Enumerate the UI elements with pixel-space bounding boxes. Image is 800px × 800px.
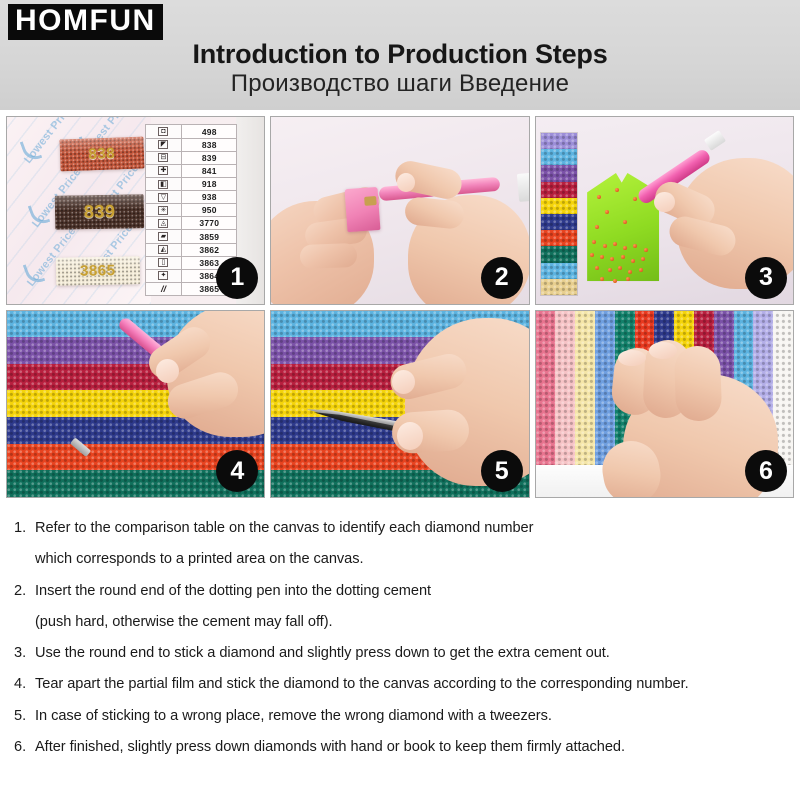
- chart-symbol-icon: ✚: [158, 166, 168, 175]
- diamond-bead: [592, 240, 596, 244]
- chart-symbol-icon: ▽: [158, 193, 168, 202]
- dmc-number-cell: 938: [182, 191, 237, 204]
- chart-symbol-icon: ◘: [158, 127, 168, 136]
- symbol-cell: ▰: [146, 230, 183, 243]
- chart-symbol-icon: ✳: [158, 206, 168, 215]
- bead-texture: [555, 311, 575, 468]
- symbol-cell: ✦: [146, 270, 183, 283]
- diamond-bead: [639, 268, 643, 272]
- instruction-text: After finished, slightly press down diam…: [35, 737, 786, 758]
- step-number-badge: 5: [481, 450, 523, 492]
- instruction-continuation: which corresponds to a printed area on t…: [14, 549, 786, 570]
- dmc-number-cell: 838: [182, 139, 237, 152]
- instruction-item: 3. Use the round end to stick a diamond …: [14, 643, 786, 664]
- instruction-item: 5. In case of sticking to a wrong place,…: [14, 706, 786, 727]
- panel-press-down-diamonds-by-hand: 6: [535, 310, 794, 499]
- diamond-bead: [631, 259, 635, 263]
- steps-image-grid: Lowest Price Lowest Price Lowest Price L…: [6, 116, 794, 498]
- brand-logo: HOMFUN: [8, 4, 163, 40]
- diamond-bead: [621, 255, 625, 259]
- diamond-bead: [595, 225, 599, 229]
- diamond-bead: [626, 277, 630, 281]
- instruction-item: 1. Refer to the comparison table on the …: [14, 518, 786, 539]
- dotting-cement-block: [344, 187, 380, 232]
- panel-remove-diamond-with-tweezers: 5: [270, 310, 529, 499]
- diamond-bead: [608, 268, 612, 272]
- diamond-bead: [595, 266, 599, 270]
- symbol-cell: ⊟: [146, 152, 183, 165]
- page-title-english: Introduction to Production Steps: [0, 40, 800, 69]
- table-row: ◧ 918: [146, 178, 238, 191]
- instruction-text: Tear apart the partial film and stick th…: [35, 674, 786, 695]
- step-number-badge: 3: [745, 257, 787, 299]
- symbol-cell: ▯: [146, 257, 183, 270]
- table-row: ◬ 3770: [146, 217, 238, 230]
- diamond-bead: [633, 197, 637, 201]
- symbol-cell: //: [146, 283, 183, 296]
- instruction-number: 6.: [14, 737, 35, 758]
- table-row: ◘ 498: [146, 125, 238, 138]
- bead-texture: [575, 311, 595, 468]
- diamond-bead: [603, 244, 607, 248]
- symbol-cell: ◬: [146, 217, 183, 230]
- dmc-number-cell: 3859: [182, 230, 237, 243]
- table-row: ▰ 3859: [146, 230, 238, 243]
- dmc-number-cell: 918: [182, 178, 237, 191]
- diamond-bead: [615, 188, 619, 192]
- instruction-item: 4. Tear apart the partial film and stick…: [14, 674, 786, 695]
- chart-symbol-icon: ✦: [158, 271, 168, 280]
- ring-finger: [673, 345, 722, 421]
- table-row: ⊟ 839: [146, 152, 238, 165]
- bead-texture: [536, 311, 556, 468]
- right-thumb: [404, 196, 466, 230]
- dmc-number-cell: 839: [182, 152, 237, 165]
- panel-diamond-bags-and-color-chart: Lowest Price Lowest Price Lowest Price L…: [6, 116, 265, 305]
- chart-symbol-icon: ▰: [158, 232, 168, 241]
- dmc-number-cell: 3770: [182, 217, 237, 230]
- panel-insert-pen-into-cement: 2: [270, 116, 529, 305]
- table-row: ✳ 950: [146, 204, 238, 217]
- diamond-bead: [613, 279, 617, 283]
- table-row: ✚ 841: [146, 165, 238, 178]
- diamond-bag: 3865: [56, 256, 140, 285]
- diamond-bead: [590, 253, 594, 257]
- right-fingernail: [654, 192, 675, 213]
- title-block: Introduction to Production Steps Произво…: [0, 40, 800, 99]
- dmc-number-cell: 3862: [182, 244, 237, 257]
- canvas-stripe: [536, 311, 556, 468]
- instruction-number: 3.: [14, 643, 35, 664]
- diamond-bead: [623, 246, 627, 250]
- instruction-number: 2.: [14, 581, 35, 602]
- diamond-bag-label: 3865: [80, 262, 116, 280]
- symbol-cell: ◘: [146, 125, 183, 138]
- right-fingernail: [397, 173, 415, 192]
- chart-symbol-icon: ◤: [158, 140, 168, 149]
- diamond-bead: [610, 257, 614, 261]
- table-row: ◭ 3862: [146, 244, 238, 257]
- symbol-cell: ◤: [146, 139, 183, 152]
- diamond-bag-label: 838: [89, 144, 116, 162]
- symbol-cell: ◭: [146, 244, 183, 257]
- diamond-bead: [597, 195, 601, 199]
- diamond-bead: [618, 266, 622, 270]
- canvas-stripe: [555, 311, 575, 468]
- chart-symbol-icon: //: [158, 285, 168, 294]
- step-number-badge: 2: [481, 257, 523, 299]
- diamond-bag: 839: [54, 195, 144, 230]
- diamond-bead: [600, 255, 604, 259]
- chart-symbol-icon: ⊟: [158, 153, 168, 162]
- chart-symbol-icon: ◧: [158, 180, 168, 189]
- panel-place-diamond-on-canvas: 4: [6, 310, 265, 499]
- table-row: ▽ 938: [146, 191, 238, 204]
- fingernail: [649, 342, 677, 359]
- diamond-bead: [633, 244, 637, 248]
- chart-symbol-icon: ◬: [158, 219, 168, 228]
- step-number-badge: 1: [216, 257, 258, 299]
- pen-cap: [517, 172, 529, 202]
- symbol-cell: ▽: [146, 191, 183, 204]
- instruction-number: 5.: [14, 706, 35, 727]
- canvas-stripe: [575, 311, 595, 468]
- instruction-number: 4.: [14, 674, 35, 695]
- page-title-russian: Производство шаги Введение: [0, 70, 800, 99]
- panel-pick-diamond-from-tray: 3: [535, 116, 794, 305]
- symbol-cell: ◧: [146, 178, 183, 191]
- page-root: HOMFUN Introduction to Production Steps …: [0, 0, 800, 800]
- diamond-bead: [613, 242, 617, 246]
- diamond-bag-label: 839: [83, 201, 115, 223]
- diamond-bead: [644, 248, 648, 252]
- instruction-text: Refer to the comparison table on the can…: [35, 518, 786, 539]
- diamond-bead: [628, 270, 632, 274]
- instruction-text: Use the round end to stick a diamond and…: [35, 643, 786, 664]
- diamond-bag: 838: [60, 136, 145, 171]
- symbol-cell: ✳: [146, 204, 183, 217]
- instruction-item: 2. Insert the round end of the dotting p…: [14, 581, 786, 602]
- instruction-item: 6. After finished, slightly press down d…: [14, 737, 786, 758]
- header-banner: HOMFUN Introduction to Production Steps …: [0, 0, 800, 110]
- left-ring-finger: [299, 243, 356, 269]
- packaging-film-background: Lowest Price Lowest Price Lowest Price L…: [7, 117, 151, 304]
- table-row: ◤ 838: [146, 139, 238, 152]
- instruction-text: Insert the round end of the dotting pen …: [35, 581, 786, 602]
- dmc-number-cell: 950: [182, 204, 237, 217]
- instructions-list: 1. Refer to the comparison table on the …: [0, 505, 800, 800]
- instruction-text: In case of sticking to a wrong place, re…: [35, 706, 786, 727]
- diamond-bead: [605, 210, 609, 214]
- dmc-number-cell: 841: [182, 165, 237, 178]
- step-number-badge: 6: [745, 450, 787, 492]
- dmc-number-cell: 498: [182, 125, 237, 138]
- cement-hole: [364, 196, 376, 205]
- symbol-cell: ✚: [146, 165, 183, 178]
- instruction-number: 1.: [14, 518, 35, 539]
- diamond-bead: [623, 220, 627, 224]
- chart-symbol-icon: ◭: [158, 245, 168, 254]
- instruction-continuation: (push hard, otherwise the cement may fal…: [14, 612, 786, 633]
- chart-symbol-icon: ▯: [158, 258, 168, 267]
- diamond-bead: [641, 257, 645, 261]
- diamond-bead: [600, 277, 604, 281]
